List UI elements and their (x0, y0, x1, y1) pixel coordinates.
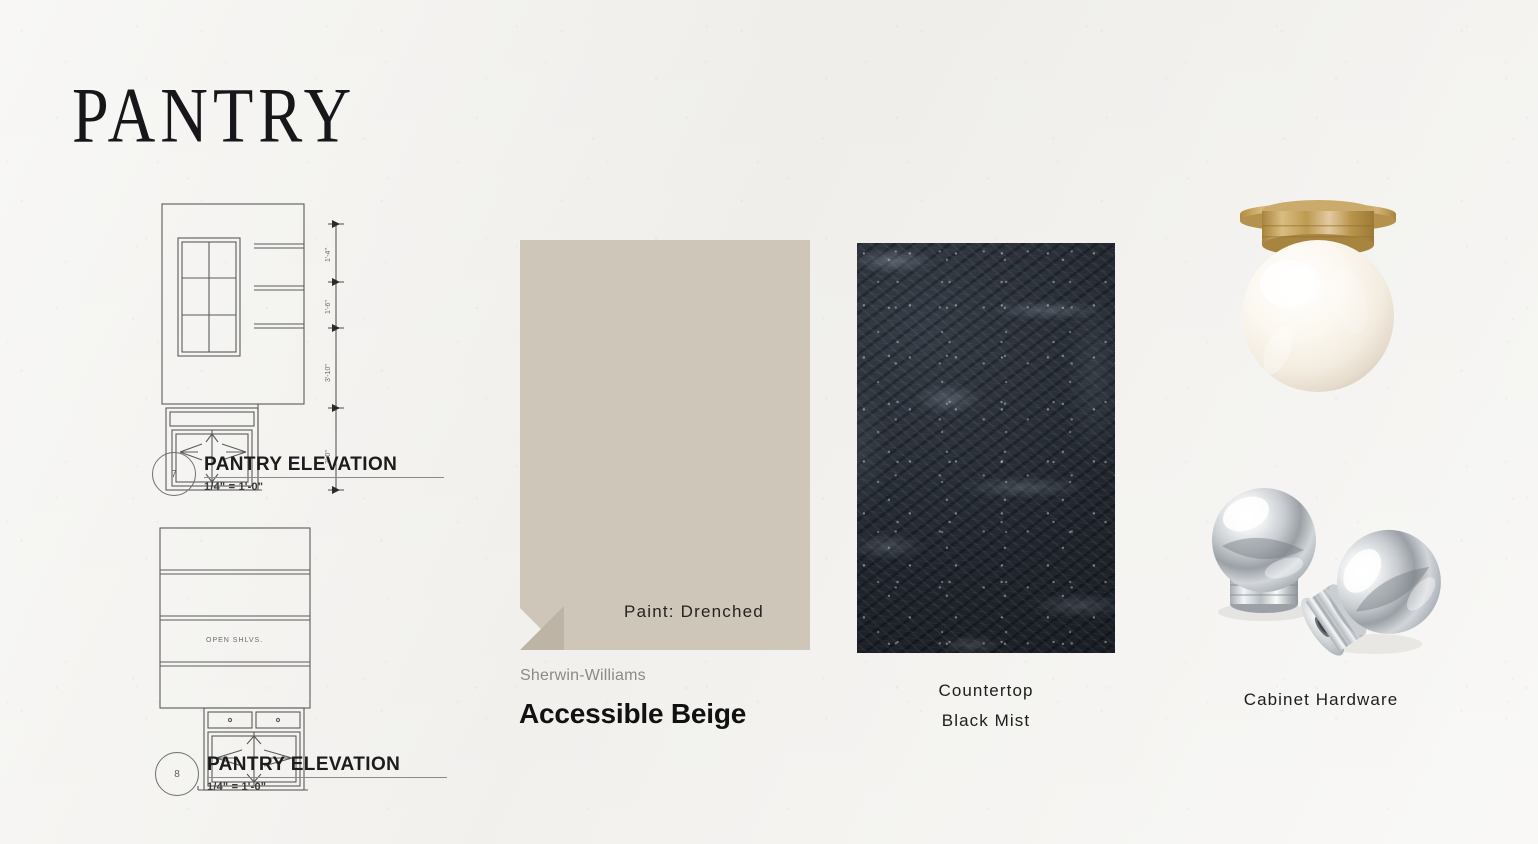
drawing-tag-number-8: 8 (155, 752, 199, 796)
countertop-sample-image (857, 243, 1115, 653)
countertop-caption: Countertop Black Mist (857, 676, 1115, 736)
shelf-annotation: OPEN SHLVS. (206, 637, 263, 644)
paint-brand-label: Sherwin-Williams (520, 667, 646, 685)
drawing-title-rule (204, 477, 444, 478)
countertop-caption-line1: Countertop (857, 676, 1115, 706)
svg-text:1'-4": 1'-4" (325, 248, 332, 262)
countertop-caption-line2: Black Mist (857, 706, 1115, 736)
mood-board-canvas: PANTRY (0, 0, 1538, 844)
page-title: PANTRY (72, 78, 356, 156)
elevation-drawing-svg-top: 1'-4" 1'-6" 3'-10" 3'-0" (150, 196, 440, 496)
paint-color-name: Accessible Beige (519, 698, 746, 730)
flush-mount-globe-light-image (1232, 192, 1404, 400)
drawing-heading-7: PANTRY ELEVATION (204, 454, 444, 476)
knob-upright (1212, 488, 1316, 613)
paint-overlay-label: Paint: Drenched (520, 602, 810, 622)
paint-swatch: Paint: Drenched (520, 240, 810, 650)
svg-text:3'-10": 3'-10" (325, 364, 332, 382)
drawing-title-block-7: 7 PANTRY ELEVATION 1/4" = 1'-0" (152, 452, 444, 496)
drawing-title-block-8: 8 PANTRY ELEVATION 1/4" = 1'-0" (155, 752, 447, 796)
svg-text:1'-6": 1'-6" (325, 300, 332, 314)
drawing-tag-number-7: 7 (152, 452, 196, 496)
drawing-scale-8: 1/4" = 1'-0" (207, 781, 447, 793)
paint-swatch-chip (520, 240, 810, 650)
cabinet-knob-pair-svg (1196, 472, 1446, 672)
globe-light-svg (1232, 192, 1404, 400)
hardware-caption: Cabinet Hardware (1196, 690, 1446, 710)
stone-speckle-overlay (857, 243, 1115, 653)
cabinet-knobs-image (1196, 472, 1446, 672)
pantry-elevation-drawing-7: 1'-4" 1'-6" 3'-10" 3'-0" (150, 196, 440, 496)
drawing-title-rule (207, 777, 447, 778)
drawing-heading-8: PANTRY ELEVATION (207, 754, 447, 776)
drawing-scale-7: 1/4" = 1'-0" (204, 481, 444, 493)
